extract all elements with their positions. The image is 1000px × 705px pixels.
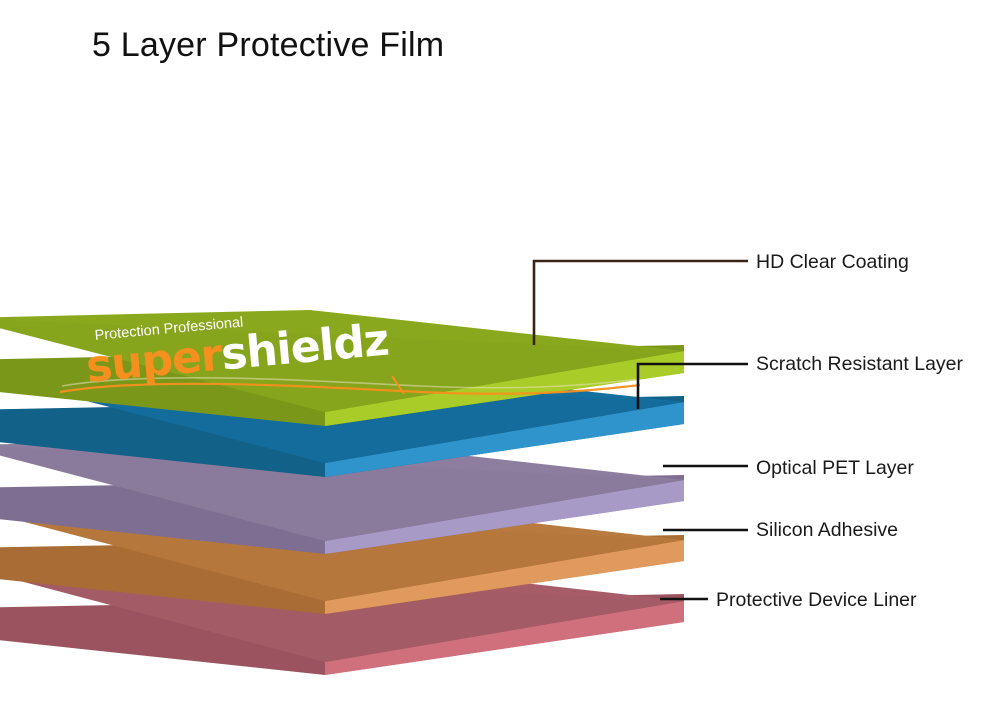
- diagram-canvas: 5 Layer Protective Film: [0, 0, 1000, 705]
- callout-line-hd-clear-coating: [534, 261, 748, 345]
- brand-wordmark-super: super: [84, 330, 224, 393]
- callout-label-scratch-resistant: Scratch Resistant Layer: [756, 353, 963, 376]
- callout-label-silicon-adhesive: Silicon Adhesive: [756, 519, 898, 542]
- callout-label-protective-device-liner: Protective Device Liner: [716, 589, 917, 612]
- callout-label-hd-clear-coating: HD Clear Coating: [756, 251, 909, 274]
- callout-label-optical-pet: Optical PET Layer: [756, 457, 914, 480]
- brand-logo: Protection Professional supershieldz: [84, 328, 424, 406]
